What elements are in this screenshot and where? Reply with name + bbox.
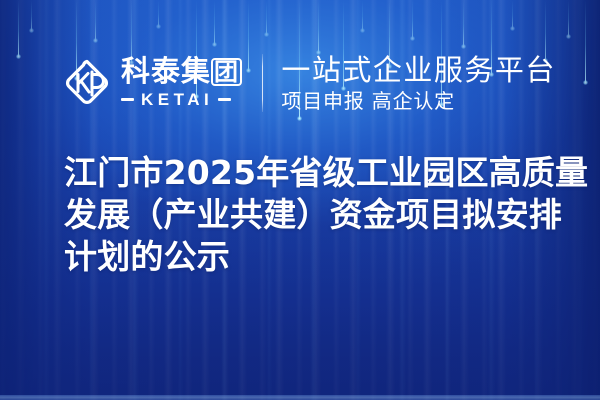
page-title: 江门市2025年省级工业园区高质量 发展（产业共建）资金项目拟安排 计划的公示 (64, 152, 576, 278)
light-streak (214, 0, 215, 44)
light-streak (362, 0, 363, 30)
page-title-line-2: 发展（产业共建）资金项目拟安排 (64, 194, 576, 236)
tagline-secondary: 项目申报 高企认定 (281, 90, 556, 112)
banner-header: 科泰集团 KETAI 一站式企业服务平台 项目申报 高企认定 (0, 42, 600, 124)
logo-dash-right-icon (218, 98, 231, 101)
logo-company-name-cn: 科泰集团 (121, 57, 242, 87)
light-streak (512, 0, 513, 28)
logo-dash-left-icon (121, 98, 134, 101)
light-streak (412, 0, 413, 38)
light-streak (158, 0, 159, 26)
logo-company-name-en-text: KETAI (134, 90, 218, 110)
header-divider (262, 54, 263, 112)
light-streak (31, 0, 32, 30)
ketai-diamond-monogram-icon (62, 58, 112, 108)
light-streak (568, 0, 569, 36)
light-streak (95, 0, 96, 40)
brand-lockup: 科泰集团 KETAI (62, 57, 242, 110)
light-streak (463, 0, 464, 46)
logo-wordmark: 科泰集团 KETAI (121, 57, 242, 110)
logo-company-name-cn-prefix: 科泰集 (121, 54, 211, 88)
logo-company-name-en: KETAI (121, 90, 242, 110)
promotional-banner: 科泰集团 KETAI 一站式企业服务平台 项目申报 高企认定 江门市2025年省… (0, 0, 600, 400)
page-title-line-1: 江门市2025年省级工业园区高质量 (64, 152, 576, 194)
light-streak (266, 0, 267, 34)
page-title-line-3: 计划的公示 (64, 236, 576, 278)
bottom-accent-line (0, 395, 600, 400)
tagline-group: 一站式企业服务平台 项目申报 高企认定 (281, 54, 556, 112)
tagline-primary: 一站式企业服务平台 (281, 54, 556, 86)
logo-company-name-cn-boxed: 团 (211, 58, 242, 86)
